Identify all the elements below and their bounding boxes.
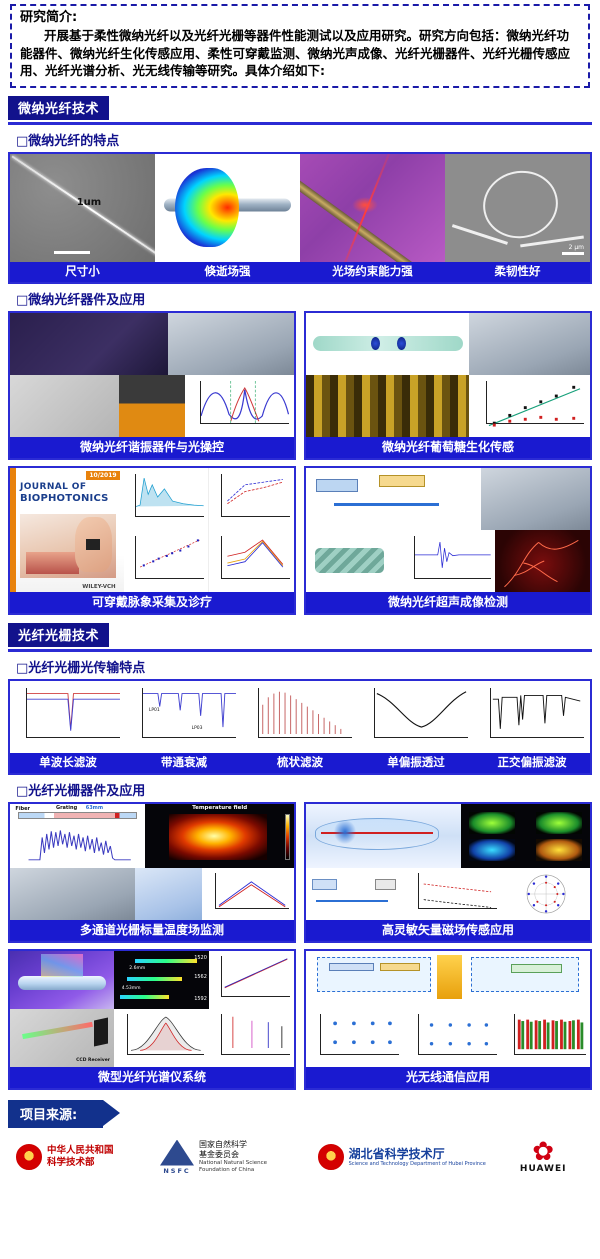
- application-caption: 高灵敏矢量磁场传感应用: [306, 920, 590, 941]
- grating-application-row-2: 1520 1562 1592 2.6mm 4.53mm: [8, 949, 592, 1090]
- plot-axes: [414, 536, 491, 579]
- plot-axes: [258, 688, 352, 738]
- knot-scale-bar-icon: [562, 252, 584, 255]
- dual-notch-spectrum-icon: [491, 688, 584, 734]
- plot-axes: [486, 381, 584, 424]
- poster-page: 研究简介: 开展基于柔性微纳光纤以及光纤光栅等器件性能测试以及应用研究。研究方向…: [0, 4, 600, 1259]
- fiber-taper-shape: [300, 174, 432, 262]
- application-card-resonator: 微纳光纤谐振器件与光操控: [8, 311, 296, 460]
- ccd-label: CCD Receiver: [76, 1058, 110, 1063]
- notch-spectrum-icon: [27, 688, 120, 734]
- mode-image-top-view: [536, 839, 582, 861]
- dual-trend-scatter-icon: [419, 873, 497, 912]
- feature-caption: 倏逝场强: [155, 262, 300, 282]
- source-block-shape: [312, 879, 337, 890]
- application-row-1: 微纳光纤谐振器件与光操控: [8, 311, 592, 460]
- free-space-beam-shape: [437, 955, 463, 999]
- hubei-text-group: 湖北省科学技术厅 Science and Technology Departme…: [349, 1147, 486, 1168]
- glucose-calibration-plot: [469, 375, 590, 437]
- broad-dip-curve-icon: [375, 688, 468, 734]
- lp03-label: LP03: [192, 726, 203, 731]
- feature-caption: 单波长滤波: [10, 753, 126, 773]
- hubei-zh-title: 湖北省科学技术厅: [349, 1147, 486, 1161]
- feature-caption: 带通衰减: [126, 753, 242, 773]
- multi-series-lines-icon: [222, 536, 290, 570]
- plot-axes: [200, 381, 289, 424]
- light-confinement-image: [300, 154, 445, 262]
- sbp-correlation-plot: [124, 530, 210, 592]
- feature-caption-bar-2: 单波长滤波 带通衰减 梳状滤波 单偏振透过 正交偏振滤波: [10, 753, 590, 773]
- grating-length-label: 63mm: [86, 805, 103, 811]
- intro-box: 研究简介: 开展基于柔性微纳光纤以及光纤光栅等器件性能测试以及应用研究。研究方向…: [10, 4, 590, 88]
- calibration-scatter-icon: [487, 381, 584, 429]
- temperature-field-title: Temperature field: [145, 805, 294, 811]
- feature-figure-box-2: LP01 LP03: [8, 679, 592, 775]
- temperature-field-heatmap: Temperature field: [145, 804, 294, 868]
- spectral-lines-image: 1520 1562 1592 2.6mm 4.53mm: [114, 951, 209, 1009]
- plot-axes: [418, 1014, 497, 1055]
- most-line-2: 科学技术部: [47, 1157, 114, 1169]
- plot-axes: [221, 474, 290, 517]
- plot-axes: [221, 536, 290, 579]
- logo-huawei: ✿ HUAWEI: [502, 1140, 584, 1174]
- group-delay-plot: [185, 375, 294, 437]
- amplifier-block-shape: [379, 475, 424, 487]
- single-polarization-plot: [358, 681, 474, 753]
- application-card-glucose: 微纳光纤葡萄糖生化传感: [304, 311, 592, 460]
- comb-filter-plot: [242, 681, 358, 753]
- huawei-flower-icon: ✿: [532, 1140, 554, 1164]
- hubei-en-subtitle: Science and Technology Department of Hub…: [349, 1161, 486, 1168]
- feature-caption: 梳状滤波: [242, 753, 358, 773]
- footer-funding-sources: 项目来源: 中华人民共和国 科学技术部 NSFC 国家自然科学 基金委员会 Na…: [8, 1100, 592, 1175]
- wearable-device-shape: [86, 539, 100, 550]
- nsfc-zh-line-2: 基金委员会: [199, 1150, 267, 1160]
- dispersion-fan-shape: [41, 954, 83, 977]
- constellation-plot-1: [306, 1009, 404, 1067]
- temperature-setup-photo: [10, 868, 135, 920]
- laser-block-shape: [316, 479, 358, 493]
- plot-axes: [215, 873, 290, 909]
- section-2-subhead-features: □光纤光栅光传输特点: [16, 657, 592, 676]
- single-wavelength-filter-plot: [10, 681, 126, 753]
- mode-image-side-view: [469, 839, 515, 861]
- spectral-label-1562: 1562: [194, 974, 207, 980]
- resonator-setup-render-image: [168, 313, 294, 375]
- most-line-1: 中华人民共和国: [47, 1145, 114, 1157]
- journal-spine-shape: [10, 468, 16, 592]
- feature-caption: 光场约束能力强: [300, 262, 445, 282]
- polar-response-plot: [502, 868, 590, 920]
- logo-nsfc: NSFC 国家自然科学 基金委员会 National Natural Scien…: [160, 1140, 310, 1175]
- plot-axes: [127, 1014, 204, 1055]
- journal-cover-art-image: [20, 514, 116, 578]
- lens-shape: [334, 820, 356, 844]
- constellation-plot-2: [404, 1009, 502, 1067]
- feature-figure-box-1: 1um 2 μm: [8, 152, 592, 284]
- section-micro-nano-fiber: 微纳光纤技术 □微纳光纤的特点 1um: [8, 96, 592, 615]
- application-card-temperature-field: Fiber Grating 63mm Temperature field: [8, 802, 296, 943]
- psf-peak-icon: [128, 1014, 204, 1052]
- application-card-wearable: 10/2019 JOURNAL OF BIOPHOTONICS WILEY-VC…: [8, 466, 296, 615]
- application-caption: 微型光纤光谱仪系统: [10, 1067, 294, 1088]
- evanescent-field-simulation-image: [155, 154, 300, 262]
- waveguide-shape: [18, 976, 105, 990]
- plot-axes: LP01 LP03: [142, 688, 236, 738]
- fiber-array-diagram-image: [306, 530, 401, 592]
- plot-axes: [320, 1014, 399, 1055]
- nsfc-en-line-2: Foundation of China: [199, 1167, 267, 1174]
- paired-bars-icon: [515, 1014, 585, 1049]
- magnetic-sensing-setup-diagram: [306, 868, 404, 920]
- pulse-wave-curve-icon: [136, 474, 204, 508]
- plot-axes: [374, 688, 468, 738]
- feature-caption-bar-1: 尺寸小 倏逝场强 光场约束能力强 柔韧性好: [10, 262, 590, 282]
- polar-plot-icon: [502, 868, 590, 920]
- application-row-2: 10/2019 JOURNAL OF BIOPHOTONICS WILEY-VC…: [8, 466, 592, 615]
- journal-issue-label: 10/2019: [86, 471, 119, 480]
- national-emblem-icon: [16, 1144, 42, 1170]
- modulator-module-shape: [380, 963, 420, 971]
- intro-body: 开展基于柔性微纳光纤以及光纤光栅等器件性能测试以及应用研究。研究方向包括：微纳光…: [20, 27, 580, 80]
- mode-field-lobe-shape: [175, 168, 239, 248]
- knot-scale-label: 2 μm: [569, 244, 584, 251]
- glucose-molecule-schematic-image: [306, 313, 469, 375]
- tapered-fiber-shape: [313, 336, 463, 351]
- section-2-subhead-applications: □光纤光栅器件及应用: [16, 780, 592, 799]
- linear-fit-icon: [222, 956, 290, 990]
- funding-logo-list: 中华人民共和国 科学技术部 NSFC 国家自然科学 基金委员会 National…: [8, 1140, 592, 1175]
- nsfc-triangle-icon: [160, 1140, 194, 1166]
- peak-lines-icon: [222, 1014, 290, 1048]
- microscope-fiber-strip-image: [306, 375, 469, 437]
- receiver-group-shape: [471, 957, 579, 992]
- temperature-profile-plot: [202, 868, 294, 920]
- ultrasound-experiment-photo: [481, 468, 590, 530]
- fiber-knot-image: 2 μm: [445, 154, 590, 262]
- photoacoustic-schematic-image: [306, 468, 481, 530]
- nsfc-mark-group: NSFC: [160, 1140, 194, 1175]
- spectral-line-3: [120, 995, 169, 999]
- feature-image-row-2: LP01 LP03: [10, 681, 590, 753]
- signal-path-line: [316, 900, 388, 902]
- application-caption: 微纳光纤葡萄糖生化传感: [306, 437, 590, 458]
- section-fiber-bragg-grating: 光纤光栅技术 □光纤光栅光传输特点: [8, 623, 592, 1090]
- fiber-grating-strip-shape: [18, 812, 137, 819]
- plot-axes: [514, 1014, 585, 1055]
- orthogonal-polarization-plot: [474, 681, 590, 753]
- application-card-magnetic-field: 高灵敏矢量磁场传感应用: [304, 802, 592, 943]
- wearable-plots-group: [124, 468, 294, 592]
- mode-field-images: [461, 804, 590, 868]
- magnetic-response-plot: [404, 868, 502, 920]
- pulse-waveform-plot: [124, 468, 210, 530]
- laser-module-shape: [329, 963, 374, 971]
- application-caption: 多通道光栅标量温度场监测: [10, 920, 294, 941]
- temperature-crossing-lines-icon: [216, 873, 290, 910]
- pi-rl-trend-plot: [209, 468, 294, 530]
- plot-axes: [26, 688, 120, 738]
- channel-bar-plot: [502, 1009, 590, 1067]
- vector-field-schematic-image: [306, 804, 461, 868]
- silica-glass-diagram-image: [10, 375, 119, 437]
- section-2-banner-wrap: 光纤光栅技术: [8, 623, 592, 652]
- peak-positions-plot: [209, 1009, 294, 1067]
- grating-label: Grating: [56, 805, 77, 811]
- mode-image-fast-axis: [536, 812, 582, 834]
- spectral-line-1: [135, 959, 197, 963]
- optical-bench-render-image: CCD Receiver: [10, 1009, 114, 1067]
- application-card-spectrometer: 1520 1562 1592 2.6mm 4.53mm: [8, 949, 296, 1090]
- spectral-label-1592: 1592: [194, 996, 207, 1002]
- most-text-group: 中华人民共和国 科学技术部: [47, 1145, 114, 1169]
- fiber-bundle-shape: [315, 548, 383, 573]
- huawei-wordmark: HUAWEI: [520, 1164, 567, 1174]
- feature-caption: 单偏振透过: [358, 753, 474, 773]
- resonator-schematic-image: [10, 313, 168, 375]
- logo-hubei: 湖北省科学技术厅 Science and Technology Departme…: [318, 1144, 495, 1170]
- plot-axes: [418, 873, 497, 909]
- optical-path-shape: [334, 503, 439, 506]
- nsfc-mark-label: NSFC: [163, 1167, 190, 1175]
- heatmap-field-shape: [169, 814, 267, 860]
- psf-profile-plot: [114, 1009, 209, 1067]
- detector-module-shape: [511, 964, 562, 972]
- osa-block-shape: [375, 879, 397, 890]
- grating-application-row-1: Fiber Grating 63mm Temperature field: [8, 802, 592, 943]
- section-1-subhead-features: □微纳光纤的特点: [16, 130, 592, 149]
- intro-title: 研究简介:: [20, 10, 580, 26]
- journal-cover-image: 10/2019 JOURNAL OF BIOPHOTONICS WILEY-VC…: [10, 468, 124, 592]
- feature-caption: 尺寸小: [10, 262, 155, 282]
- nsfc-en-line-1: National Natural Science: [199, 1160, 267, 1167]
- application-caption: 可穿戴脉象采集及诊疗: [10, 592, 294, 613]
- nsfc-zh-line-1: 国家自然科学: [199, 1140, 267, 1150]
- application-card-ultrasound: 微纳光纤超声成像检测: [304, 466, 592, 615]
- sem-scale-label: 1um: [77, 197, 102, 208]
- journal-title-line-1: JOURNAL OF: [20, 482, 86, 492]
- lp01-label: LP01: [149, 708, 160, 713]
- feature-caption: 正交偏振滤波: [474, 753, 590, 773]
- comb-spectrum-icon: [259, 688, 352, 734]
- spectrometer-linearity-plot: [209, 951, 294, 1009]
- section-1-banner-wrap: 微纳光纤技术: [8, 96, 592, 125]
- glucose-instrument-render-image: [469, 313, 590, 375]
- plot-axes: [490, 688, 584, 738]
- fiber-loop-shape: [477, 164, 565, 245]
- trend-lines-icon: [222, 474, 290, 508]
- spectral-label-1520: 1520: [194, 955, 207, 961]
- feature-caption: 柔韧性好: [445, 262, 590, 282]
- microscope-capture-image: [119, 375, 185, 437]
- scale-bar-icon: [54, 251, 90, 254]
- skin-cross-section-shape: [26, 552, 80, 574]
- plot-axes: [135, 474, 204, 517]
- spectral-gap-label-1: 2.6mm: [129, 966, 145, 971]
- feature-image-row-1: 1um 2 μm: [10, 154, 590, 262]
- mode-image-slow-axis: [469, 812, 515, 834]
- logo-most: 中华人民共和国 科学技术部: [16, 1144, 152, 1170]
- acoustic-waveform-icon: [415, 536, 491, 574]
- vascular-imaging-photo: [495, 530, 590, 592]
- application-caption: 光无线通信应用: [306, 1067, 590, 1088]
- section-2-banner: 光纤光栅技术: [8, 623, 109, 647]
- funding-ribbon: 项目来源:: [8, 1100, 103, 1128]
- vessel-tree-icon: [495, 530, 590, 592]
- application-caption: 微纳光纤谐振器件与光操控: [10, 437, 294, 458]
- ccd-detector-shape: [94, 1017, 108, 1046]
- spectral-gap-label-2: 4.53mm: [122, 986, 141, 991]
- reflectivity-spectrum-icon: [24, 827, 138, 862]
- correlation-scatter-icon: [136, 536, 204, 570]
- spectrometer-render-image: [10, 951, 114, 1009]
- plot-axes: [135, 536, 204, 579]
- journal-title-line-2: BIOPHOTONICS: [20, 493, 109, 504]
- constellation-clusters-icon: [419, 1014, 497, 1053]
- section-1-banner: 微纳光纤技术: [8, 96, 109, 120]
- constellation-clusters-icon: [321, 1014, 399, 1053]
- plot-axes: [221, 956, 290, 997]
- band-attenuation-plot: LP01 LP03: [126, 681, 242, 753]
- sem-micro-fiber-image: 1um: [10, 154, 155, 262]
- spectral-line-2: [127, 977, 182, 981]
- beam-path-shape: [23, 1022, 94, 1039]
- grating-reflectivity-plot: Fiber Grating 63mm: [10, 804, 145, 868]
- plot-axes: [221, 1014, 290, 1055]
- heatmap-colorbar-icon: [285, 814, 290, 860]
- optical-wireless-link-diagram: [306, 951, 590, 1009]
- sample-holder-diagram-image: [135, 868, 202, 920]
- fiber-strand-icon: [11, 155, 155, 262]
- blood-velocity-plot: [209, 530, 294, 592]
- laser-glow-shape: [352, 197, 378, 213]
- journal-publisher-label: WILEY-VCH: [82, 584, 115, 590]
- group-delay-curve-icon: [201, 381, 289, 425]
- application-card-wireless-optical: 光无线通信应用: [304, 949, 592, 1090]
- acoustic-signal-plot: [401, 530, 496, 592]
- national-emblem-icon: [318, 1144, 344, 1170]
- application-caption: 微纳光纤超声成像检测: [306, 592, 590, 613]
- section-1-subhead-applications: □微纳光纤器件及应用: [16, 289, 592, 308]
- nsfc-text-group: 国家自然科学 基金委员会 National Natural Science Fo…: [199, 1140, 267, 1174]
